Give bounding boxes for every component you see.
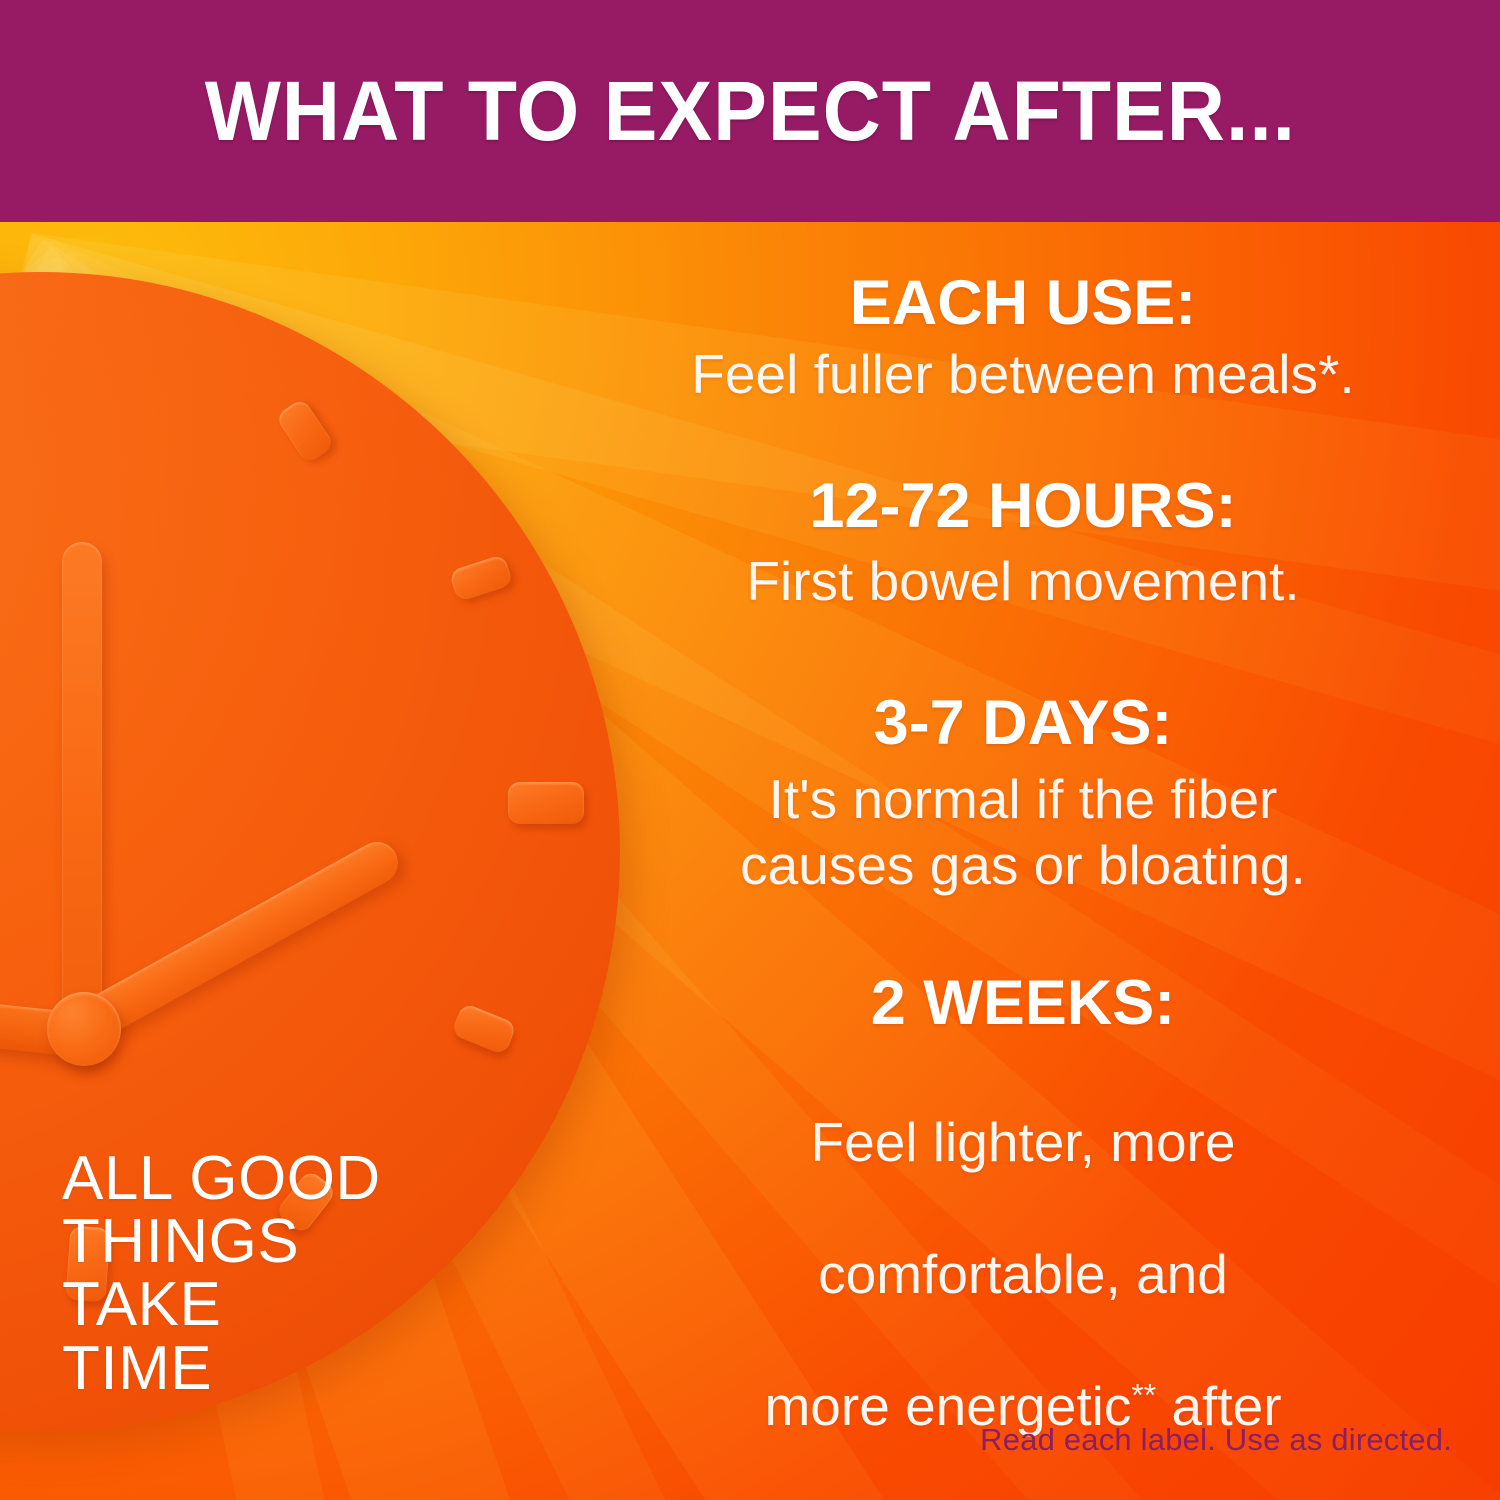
- clock-hour-marker: [508, 782, 584, 824]
- timeline-body: It's normal if the fiber causes gas or b…: [596, 766, 1450, 898]
- clock-center-hub: [47, 992, 121, 1066]
- timeline-item-2-weeks: 2 WEEKS: Feel lighter, more comfortable,…: [596, 970, 1450, 1500]
- timeline-list: EACH USE: Feel fuller between meals*. 12…: [596, 222, 1450, 1500]
- timeline-heading: EACH USE:: [596, 270, 1450, 337]
- timeline-body: First bowel movement.: [596, 548, 1450, 614]
- timeline-body-line-1: Feel lighter, more: [811, 1111, 1236, 1173]
- timeline-item-3-7-days: 3-7 DAYS: It's normal if the fiber cause…: [596, 690, 1450, 899]
- clock-illustration: ALL GOOD THINGS TAKE TIME: [0, 222, 700, 1500]
- footnote-marker-double: **: [1131, 1377, 1156, 1413]
- timeline-heading: 3-7 DAYS:: [596, 690, 1450, 757]
- timeline-item-each-use: EACH USE: Feel fuller between meals*.: [596, 270, 1450, 407]
- timeline-body-line-2: comfortable, and: [818, 1243, 1228, 1305]
- timeline-body: Feel fuller between meals*.: [596, 341, 1450, 407]
- timeline-heading: 12-72 HOURS:: [596, 473, 1450, 540]
- header-band: WHAT TO EXPECT AFTER...: [0, 0, 1500, 222]
- clock-minute-hand: [62, 542, 102, 1062]
- timeline-heading: 2 WEEKS:: [596, 970, 1450, 1037]
- page-title: WHAT TO EXPECT AFTER...: [204, 69, 1295, 153]
- footnote-disclaimer: Read each label. Use as directed.: [980, 1422, 1452, 1458]
- timeline-item-12-72-hours: 12-72 HOURS: First bowel movement.: [596, 473, 1450, 614]
- clock-caption: ALL GOOD THINGS TAKE TIME: [62, 1147, 532, 1400]
- infographic-poster: WHAT TO EXPECT AFTER... ALL GOOD THINGS …: [0, 0, 1500, 1500]
